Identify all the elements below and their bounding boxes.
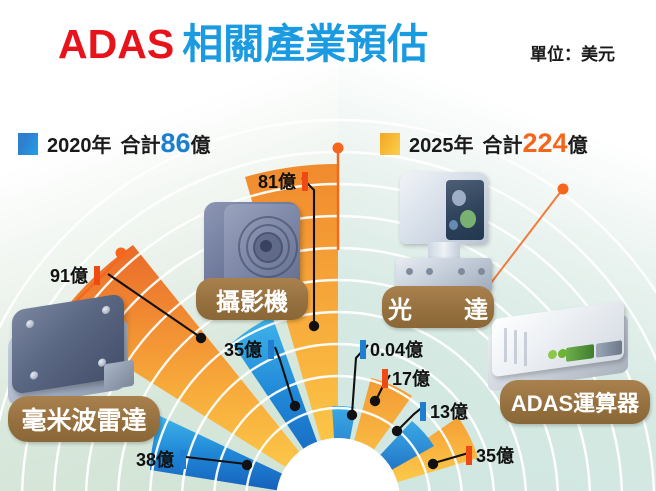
callout-tick-orange-icon	[382, 369, 388, 388]
callout-radar-2020: 38億	[136, 446, 186, 472]
legend-2020-year: 2020年	[47, 129, 112, 158]
infographic-canvas: ADAS相關產業預估 單位：美元 2020年 合計 86 億 2025年 合計 …	[0, 0, 656, 491]
leader-dot-ecu-2020	[392, 426, 402, 436]
leader-dot-camera-2020	[290, 401, 300, 411]
unit-note: 單位：美元	[530, 40, 615, 65]
leader-dot-camera-2025	[309, 321, 319, 331]
legend-2020-total-label: 合計	[121, 129, 161, 158]
callout-camera-2020: 35億	[224, 336, 274, 362]
header: ADAS相關產業預估 單位：美元	[0, 0, 656, 96]
callout-tick-orange-icon	[302, 172, 308, 191]
legend-2020-swatch-icon	[18, 133, 38, 155]
callout-camera-2025-value: 81億	[258, 168, 296, 194]
callout-ecu-2025-value: 35億	[476, 442, 514, 468]
callout-lidar-2025: 17億	[382, 365, 430, 391]
callout-tick-blue-icon	[360, 340, 366, 359]
legend-2025-year: 2025年	[409, 129, 474, 158]
leader-camera-2025	[302, 178, 314, 325]
callout-tick-orange-icon	[466, 446, 472, 465]
legend-2025-total-label: 合計	[483, 129, 523, 158]
leader-dot-lidar-2020	[347, 410, 357, 420]
callout-radar-2020-value: 38億	[136, 446, 174, 472]
leader-dot-lidar-2025	[370, 396, 380, 406]
page-title: ADAS相關產業預估	[58, 24, 428, 65]
callout-camera-2020-value: 35億	[224, 336, 262, 362]
legend-2020-total-value: 86	[161, 128, 191, 159]
leader-radar-2020	[186, 457, 246, 464]
callout-radar-2025: 91億	[50, 262, 100, 288]
callout-camera-2025: 81億	[258, 168, 308, 194]
callout-ecu-2025: 35億	[466, 442, 514, 468]
legend-2020-total-unit: 億	[191, 129, 211, 158]
callout-ecu-2020: 13億	[420, 398, 468, 424]
callout-lidar-2020-value: 0.04億	[370, 336, 423, 362]
callout-tick-blue-icon	[180, 450, 186, 469]
callout-tick-blue-icon	[420, 402, 426, 421]
legend-2025-total-unit: 億	[568, 129, 588, 158]
leader-dot-radar-2025	[196, 333, 206, 343]
legend-2025-swatch-icon	[380, 133, 400, 155]
leader-radar-2025	[108, 274, 200, 337]
legend-2020[interactable]: 2020年 合計 86 億	[18, 128, 211, 159]
leader-dot-radar-2020	[242, 460, 252, 470]
leader-camera-2020	[275, 347, 294, 405]
callout-tick-blue-icon	[268, 340, 274, 359]
callout-lidar-2020: 0.04億	[360, 336, 423, 362]
callout-radar-2025-value: 91億	[50, 262, 88, 288]
legend-2025[interactable]: 2025年 合計 224 億	[380, 128, 588, 159]
leader-dot-ecu-2025	[428, 459, 438, 469]
callout-ecu-2020-value: 13億	[430, 398, 468, 424]
callout-tick-orange-icon	[94, 266, 100, 285]
title-chinese: 相關產業預估	[182, 21, 428, 67]
title-adas: ADAS	[58, 21, 174, 67]
legend-2025-total-value: 224	[523, 128, 568, 159]
callout-lidar-2025-value: 17億	[392, 365, 430, 391]
